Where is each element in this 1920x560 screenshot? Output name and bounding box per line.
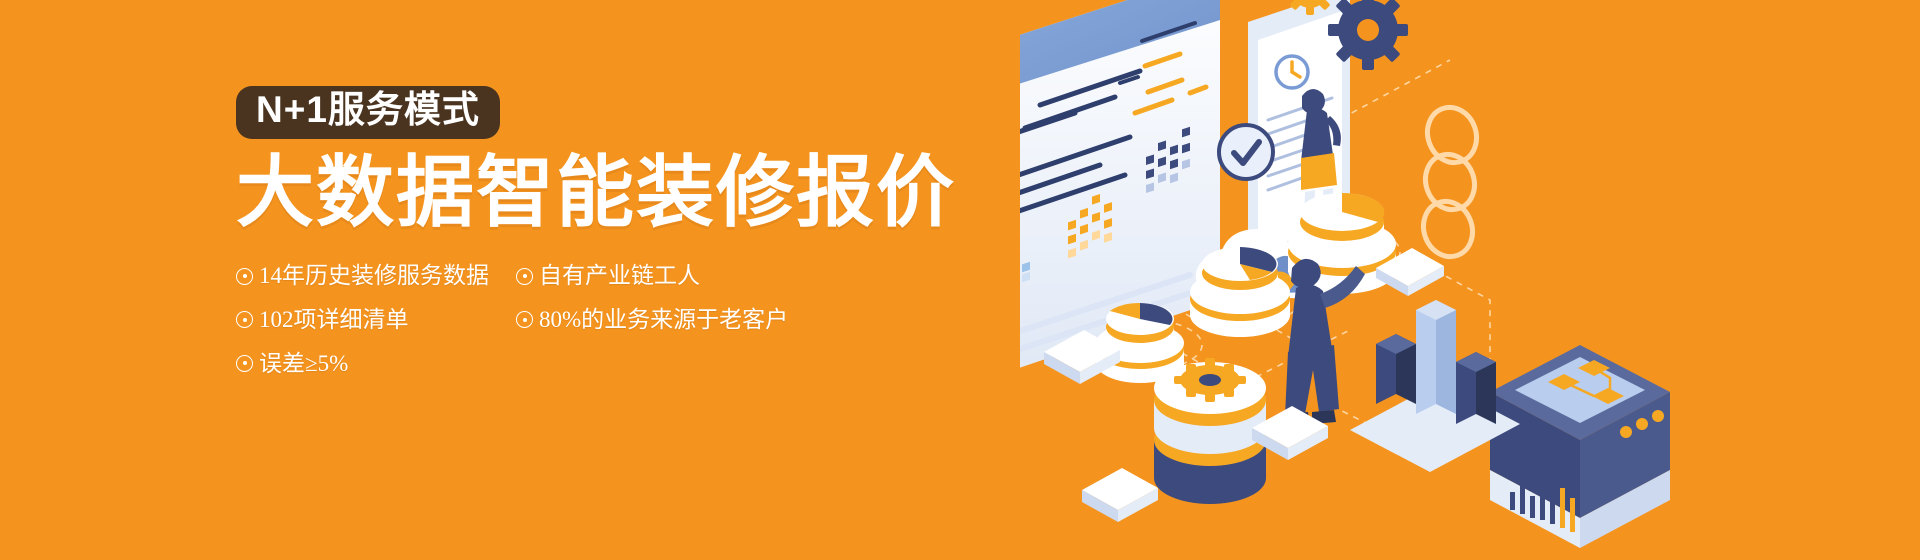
list-item: 14年历史装修服务数据 bbox=[236, 262, 498, 290]
promo-banner: N+1服务模式 大数据智能装修报价 14年历史装修服务数据 102项详细清单 误… bbox=[0, 0, 1920, 560]
circled-dot-icon bbox=[236, 268, 253, 285]
bullet-label: 14年历史装修服务数据 bbox=[259, 262, 489, 290]
list-item: 自有产业链工人 bbox=[516, 262, 816, 290]
isometric-big-data-illustration bbox=[1020, 0, 1920, 560]
list-item: 80%的业务来源于老客户 bbox=[516, 306, 816, 334]
circled-dot-icon bbox=[516, 268, 533, 285]
circled-dot-icon bbox=[516, 311, 533, 328]
banner-headline: 大数据智能装修报价 bbox=[236, 153, 996, 233]
bullet-label: 80%的业务来源于老客户 bbox=[539, 306, 788, 334]
banner-copy: N+1服务模式 大数据智能装修报价 14年历史装修服务数据 102项详细清单 误… bbox=[236, 86, 996, 377]
bullet-label: 102项详细清单 bbox=[259, 306, 409, 334]
service-model-badge: N+1服务模式 bbox=[236, 86, 500, 139]
list-item: 误差≥5% bbox=[236, 350, 498, 378]
list-item: 102项详细清单 bbox=[236, 306, 498, 334]
bullet-label: 误差≥5% bbox=[259, 350, 348, 378]
gear-large bbox=[1154, 358, 1266, 504]
bullet-column-left: 14年历史装修服务数据 102项详细清单 误差≥5% bbox=[236, 262, 498, 377]
circled-dot-icon bbox=[236, 311, 253, 328]
bullet-label: 自有产业链工人 bbox=[539, 262, 700, 290]
bullet-column-right: 自有产业链工人 80%的业务来源于老客户 bbox=[516, 262, 816, 377]
server-box bbox=[1490, 345, 1670, 548]
circled-dot-icon bbox=[236, 355, 253, 372]
check-circle-badge bbox=[1219, 125, 1273, 179]
banner-bullet-list: 14年历史装修服务数据 102项详细清单 误差≥5% 自有产业链工人 bbox=[236, 262, 996, 377]
ring-stack bbox=[1416, 100, 1484, 263]
